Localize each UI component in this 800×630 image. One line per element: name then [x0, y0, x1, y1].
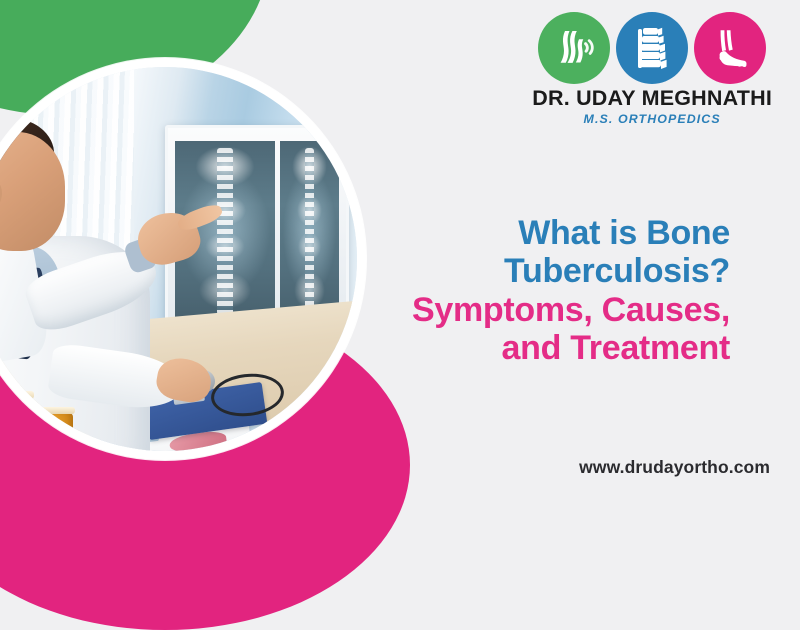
spine-icon	[616, 12, 688, 84]
clinic-tagline: M.S. ORTHOPEDICS	[532, 112, 772, 126]
headline-line-2: Tuberculosis?	[412, 252, 730, 290]
doctor-photo-image	[0, 67, 357, 451]
headline-line-3: Symptoms, Causes,	[412, 291, 730, 329]
doctor-photo	[0, 58, 366, 460]
secondary-xray-film	[280, 141, 339, 323]
foot-bone-icon	[694, 12, 766, 84]
pill-bottle	[0, 397, 31, 451]
logo-icon-row	[532, 12, 772, 84]
page-title: What is Bone Tuberculosis? Symptoms, Cau…	[412, 214, 730, 368]
pill-bottle	[31, 413, 73, 451]
knee-joint-icon	[538, 12, 610, 84]
clinic-logo[interactable]: DR. UDAY MEGHNATHI M.S. ORTHOPEDICS	[532, 12, 772, 126]
headline-line-1: What is Bone	[412, 214, 730, 252]
clinic-name: DR. UDAY MEGHNATHI	[532, 86, 772, 111]
website-url[interactable]: www.drudayortho.com	[579, 457, 770, 478]
headline-line-4: and Treatment	[412, 329, 730, 367]
